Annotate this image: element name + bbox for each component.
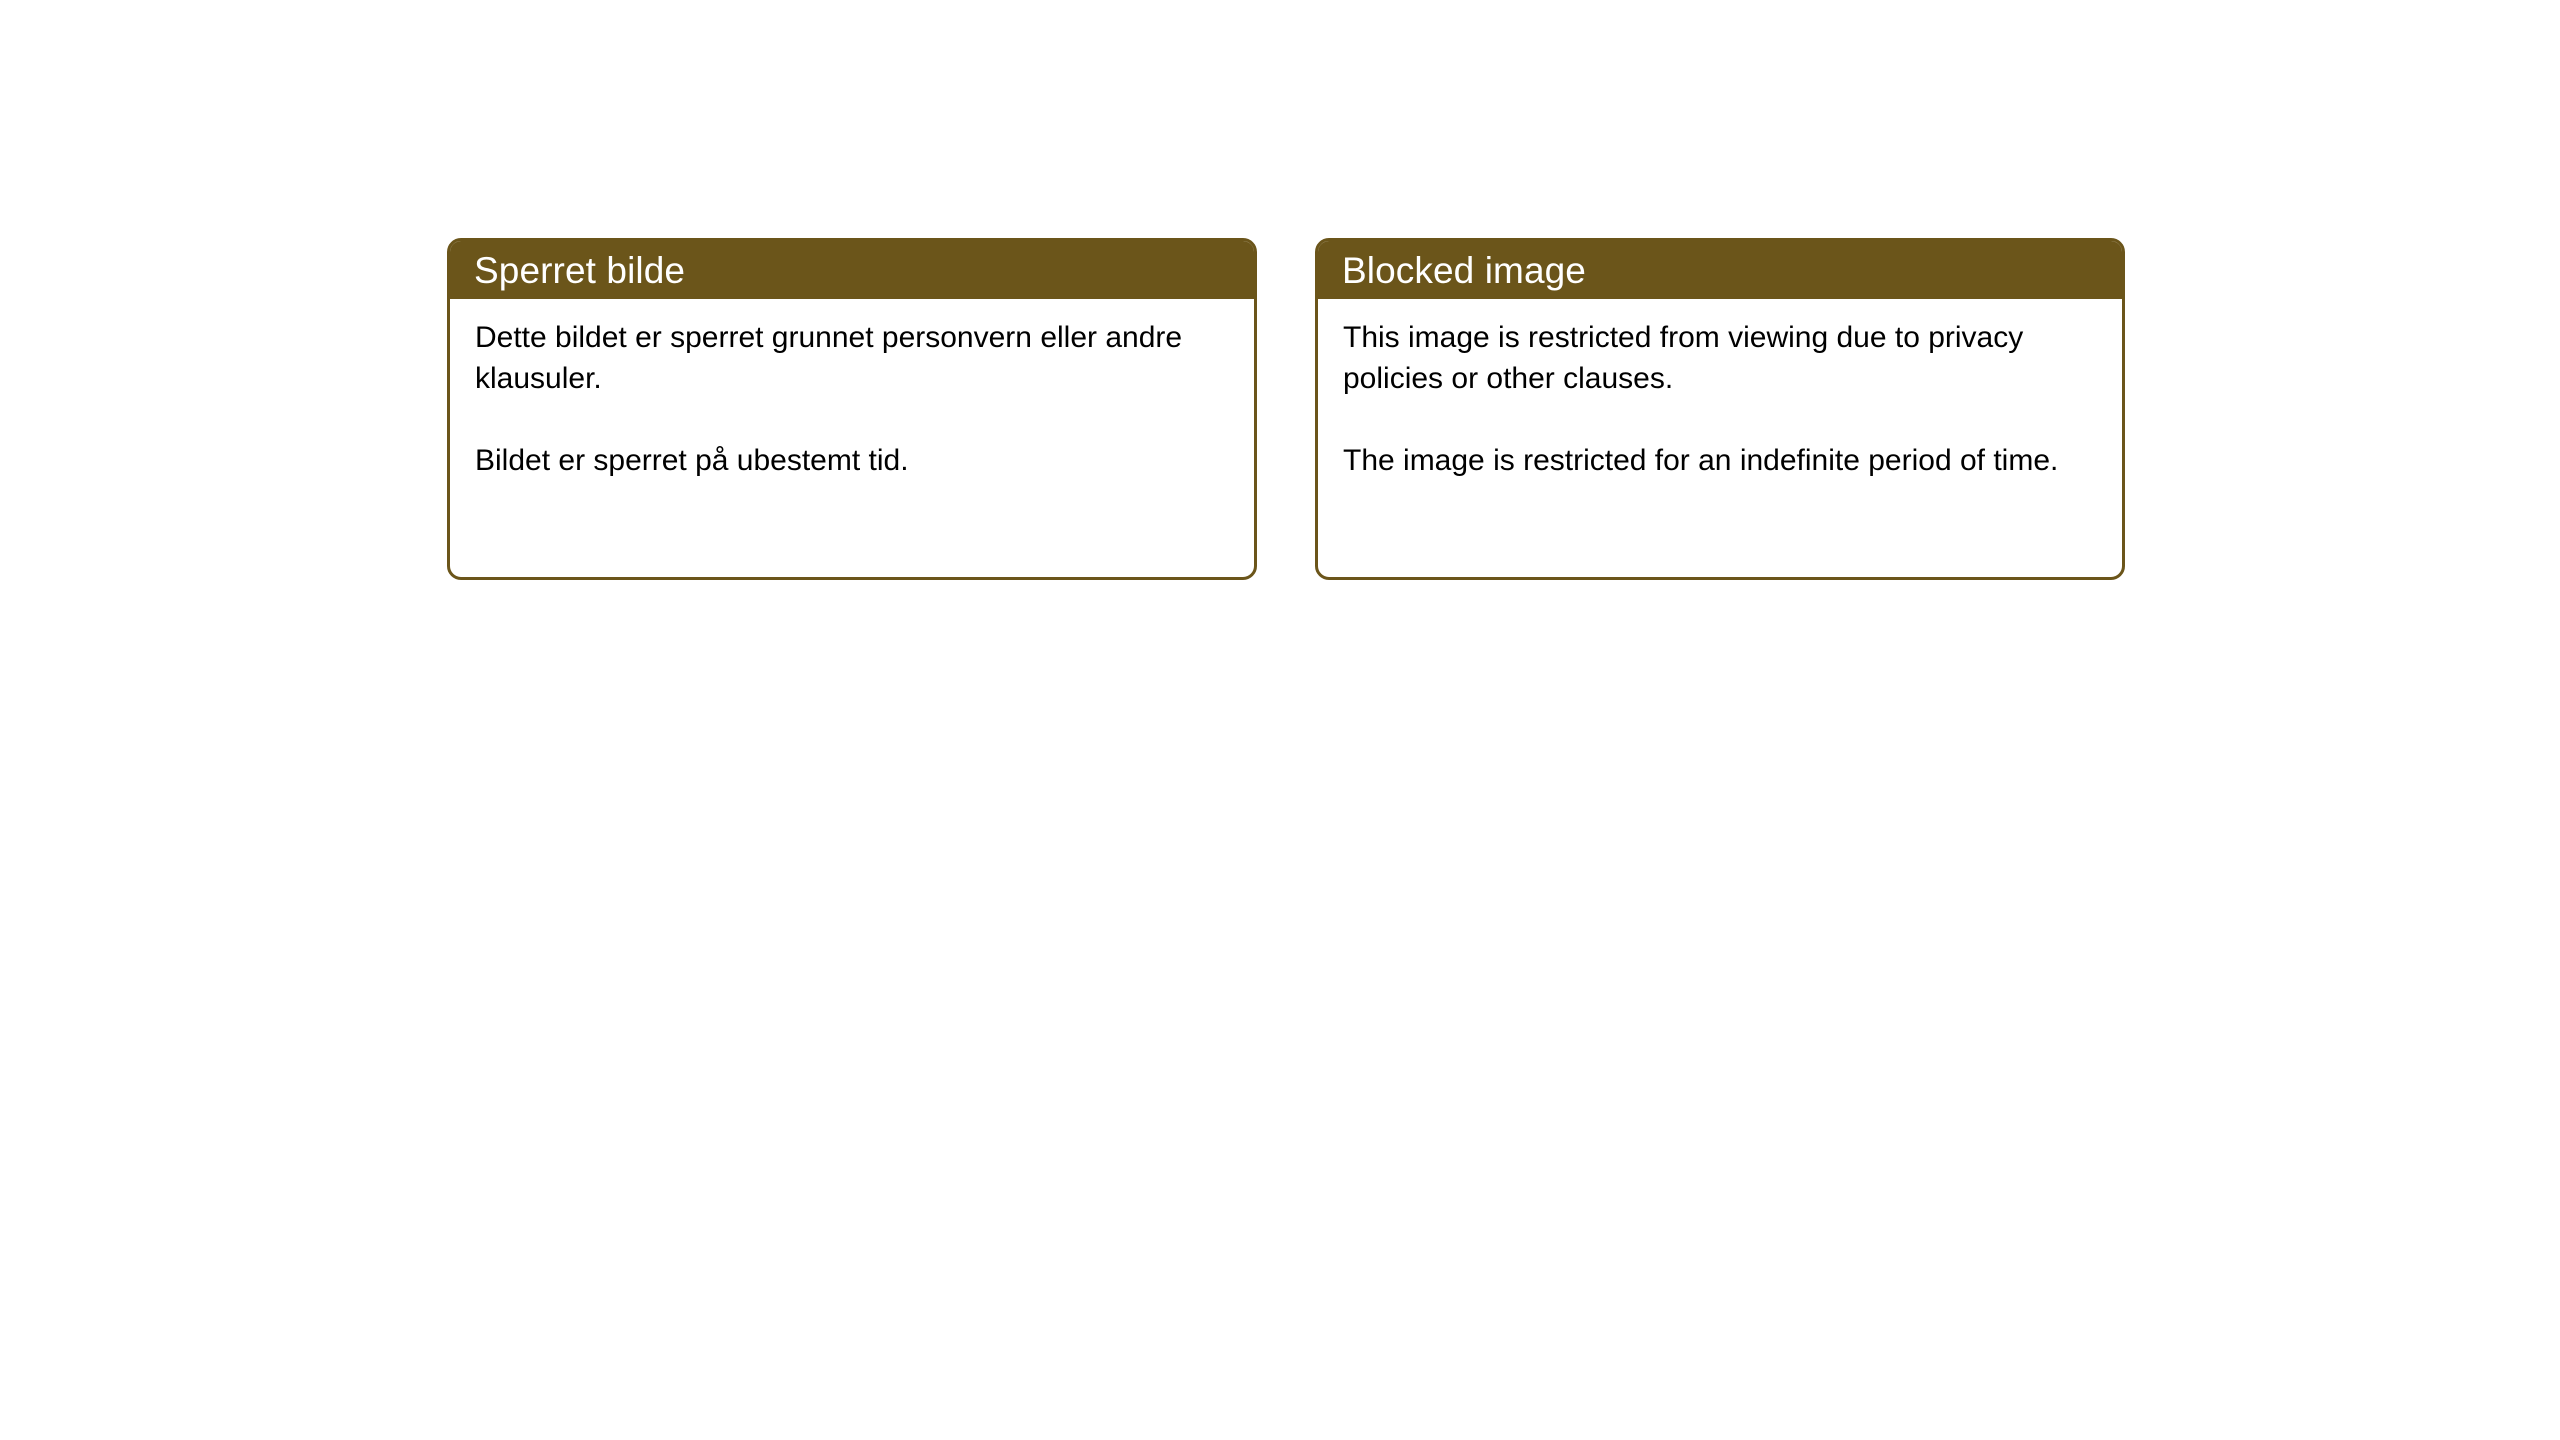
- panel-header-english: Blocked image: [1318, 241, 2122, 299]
- panel-paragraph-secondary-norwegian: Bildet er sperret på ubestemt tid.: [475, 440, 1228, 481]
- paragraph-spacer-norwegian: [475, 399, 1228, 440]
- page-canvas: Sperret bilde Dette bildet er sperret gr…: [0, 0, 2560, 1440]
- panel-paragraph-secondary-english: The image is restricted for an indefinit…: [1343, 440, 2096, 481]
- panel-body-norwegian: Dette bildet er sperret grunnet personve…: [450, 299, 1254, 481]
- paragraph-spacer-english: [1343, 399, 2096, 440]
- blocked-image-notice-english: Blocked image This image is restricted f…: [1315, 238, 2125, 580]
- panel-paragraph-primary-english: This image is restricted from viewing du…: [1343, 317, 2096, 399]
- panel-body-english: This image is restricted from viewing du…: [1318, 299, 2122, 481]
- panel-header-norwegian: Sperret bilde: [450, 241, 1254, 299]
- blocked-image-notice-norwegian: Sperret bilde Dette bildet er sperret gr…: [447, 238, 1257, 580]
- panel-paragraph-primary-norwegian: Dette bildet er sperret grunnet personve…: [475, 317, 1228, 399]
- panel-title-english: Blocked image: [1342, 252, 1586, 289]
- panel-title-norwegian: Sperret bilde: [474, 252, 685, 289]
